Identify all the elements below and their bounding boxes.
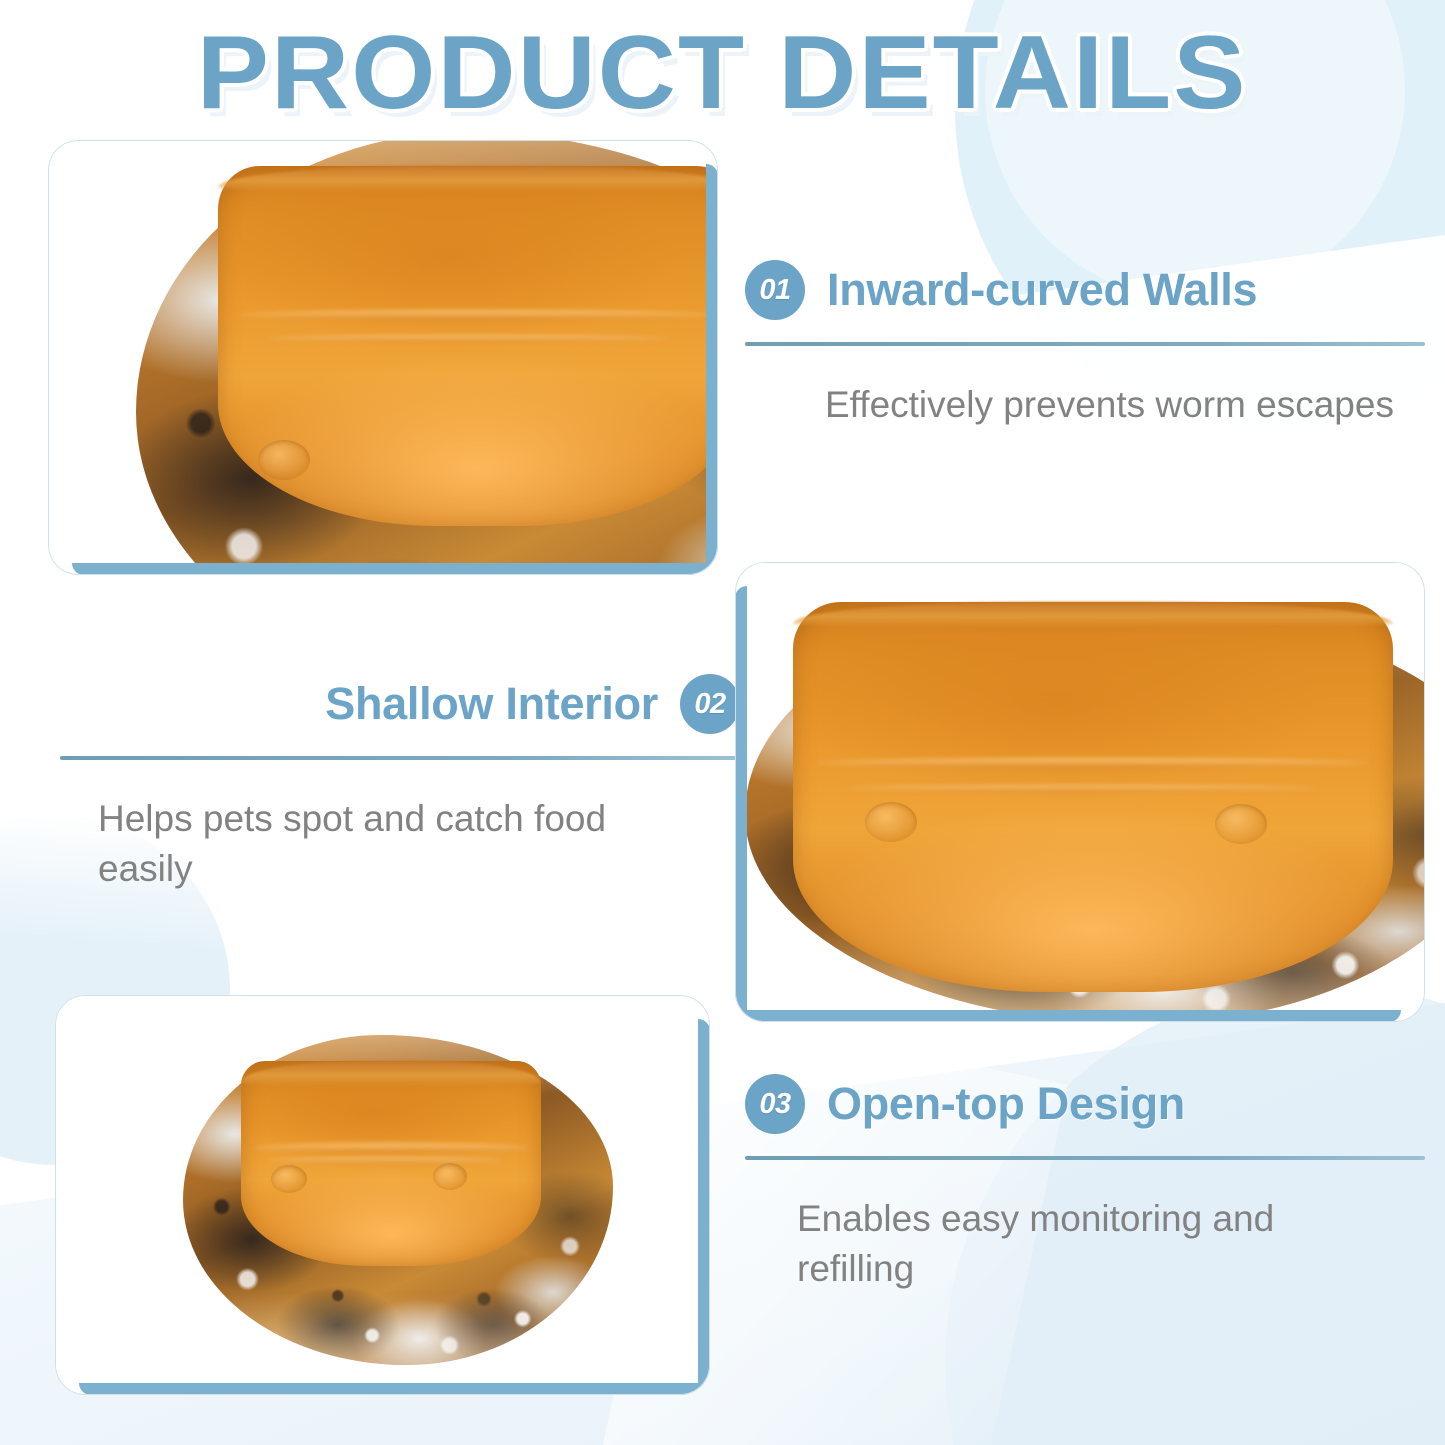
bowl-dimple [1215, 804, 1267, 844]
page-title-container: PRODUCT DETAILS [0, 14, 1445, 133]
product-photo-1 [48, 140, 718, 575]
feature-1-header: 01 Inward-curved Walls [745, 258, 1425, 322]
feature-2-header: Shallow Interior 02 [60, 672, 740, 736]
bowl-top-edge [241, 1061, 541, 1087]
product-photo-card-2 [735, 562, 1425, 1022]
bowl-ridge [817, 758, 1369, 768]
feature-block-3: 03 Open-top Design Enables easy monitori… [745, 1072, 1425, 1294]
bowl-dimple [271, 1165, 307, 1193]
product-photo-3 [55, 995, 710, 1395]
feature-1-number-badge: 01 [745, 260, 805, 320]
rock-dish-illustration-3 [183, 1035, 613, 1365]
feature-1-body: Effectively prevents worm escapes [825, 380, 1405, 430]
feature-block-1: 01 Inward-curved Walls Effectively preve… [745, 258, 1425, 430]
product-photo-2 [735, 562, 1425, 1022]
bowl-dimple [258, 440, 310, 480]
feature-2-number-badge: 02 [680, 674, 740, 734]
product-photo-card-3 [55, 995, 710, 1395]
bowl-ridge [253, 1143, 529, 1153]
feature-3-header: 03 Open-top Design [745, 1072, 1425, 1136]
bowl-ridge-secondary [268, 1157, 502, 1164]
bowl-ridge-secondary [847, 785, 1315, 792]
feature-2-body: Helps pets spot and catch food easily [98, 794, 678, 894]
bowl-dimple [433, 1163, 467, 1190]
feature-2-title: Shallow Interior [325, 678, 658, 730]
orange-bowl-interior-2 [793, 602, 1393, 992]
bowl-ridge-secondary [265, 335, 671, 342]
feature-1-divider [745, 342, 1425, 346]
page-title: PRODUCT DETAILS [197, 14, 1248, 133]
bowl-top-edge [218, 166, 718, 192]
feature-3-number-badge: 03 [745, 1074, 805, 1134]
feature-3-divider [745, 1156, 1425, 1160]
feature-3-title: Open-top Design [827, 1078, 1185, 1130]
bowl-dimple [865, 802, 917, 842]
bowl-ridge [239, 310, 717, 320]
bowl-top-edge [793, 602, 1393, 628]
feature-3-body: Enables easy monitoring and refilling [797, 1194, 1377, 1294]
feature-2-divider [60, 756, 740, 760]
orange-bowl-interior-3 [241, 1061, 541, 1266]
product-photo-card-1 [48, 140, 718, 575]
feature-block-2: Shallow Interior 02 Helps pets spot and … [60, 672, 740, 894]
feature-1-title: Inward-curved Walls [827, 264, 1257, 316]
